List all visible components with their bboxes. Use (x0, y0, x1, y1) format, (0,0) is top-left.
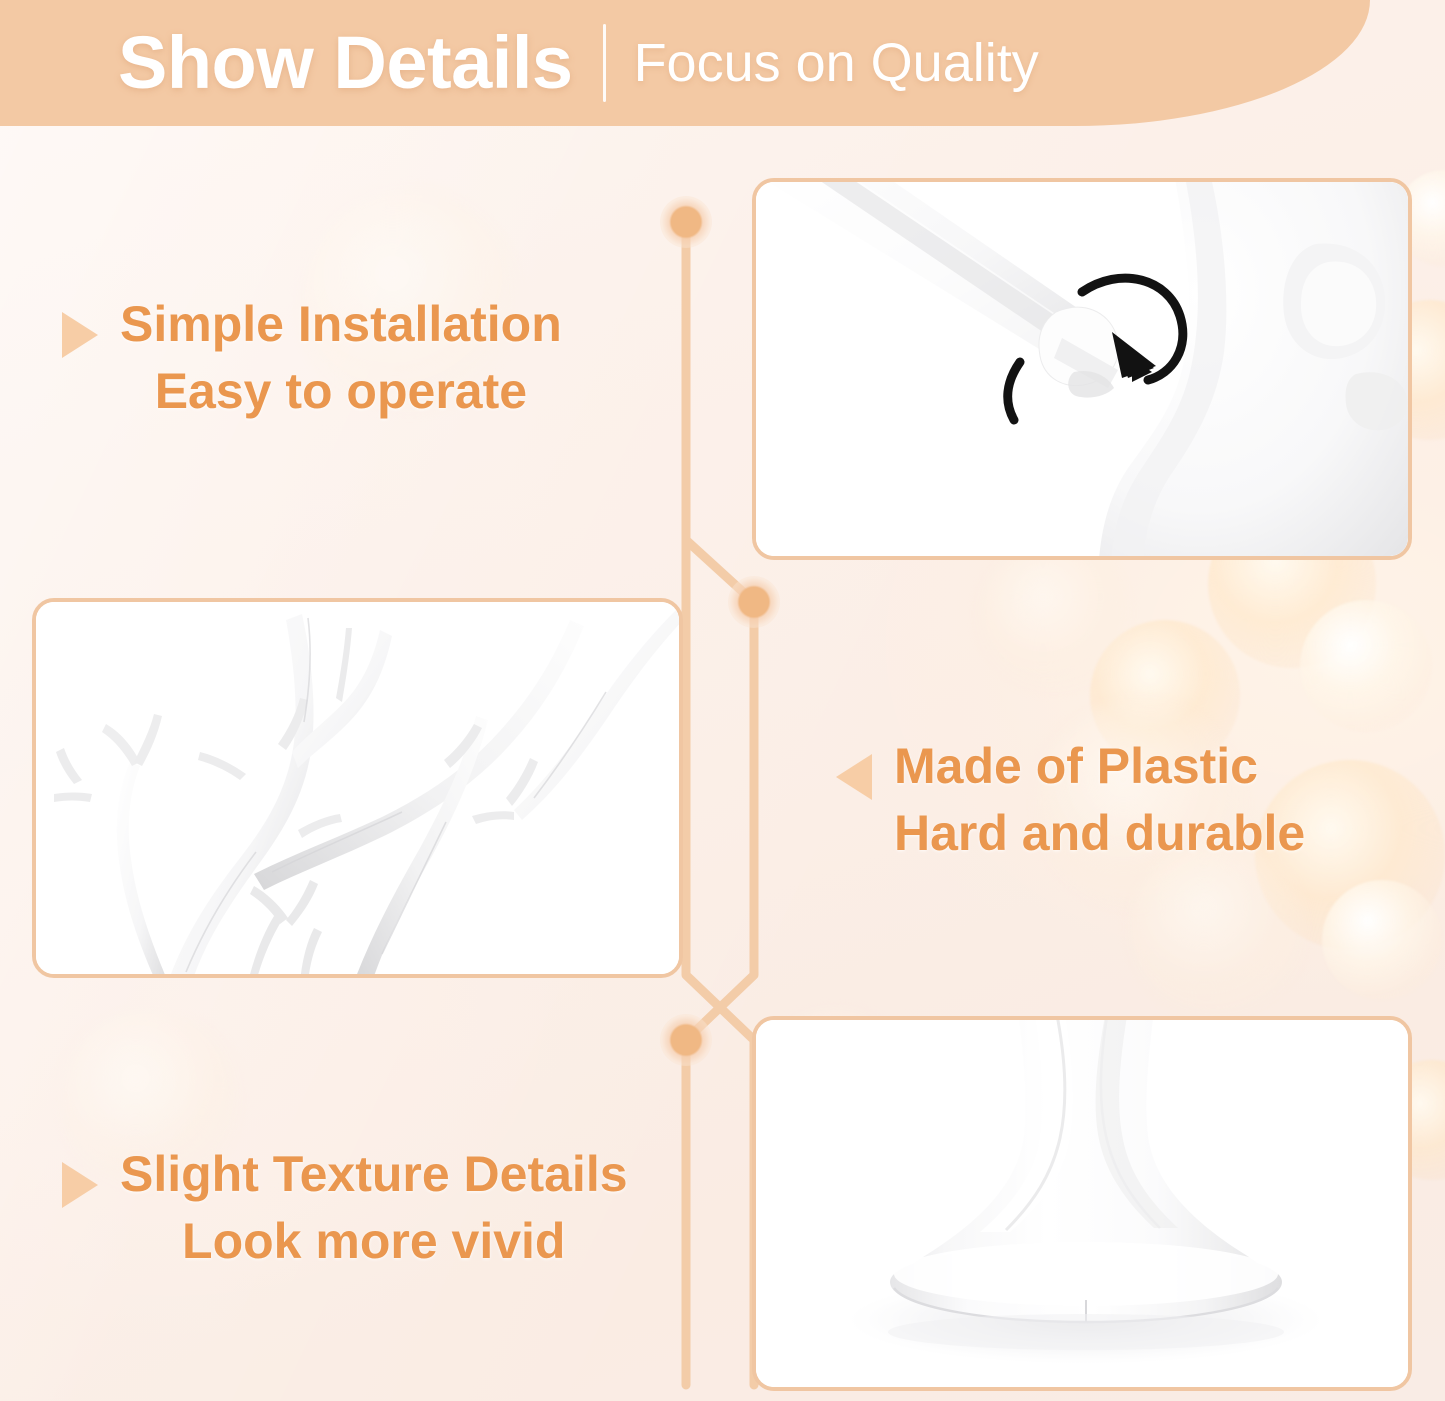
connector-node-middle (728, 576, 780, 628)
feature-made-of-plastic: Made of Plastic Hard and durable (836, 740, 1305, 860)
triangle-left-icon (836, 754, 872, 800)
feature-text-group: Simple Installation Easy to operate (120, 298, 562, 418)
installation-twist-illustration (756, 182, 1412, 560)
triangle-right-icon (62, 1162, 98, 1208)
product-detail-infographic: Show Details Focus on Quality (0, 0, 1445, 1401)
header-band: Show Details Focus on Quality (0, 0, 1370, 126)
installation-twist-photo (752, 178, 1412, 560)
feature-line-1: Slight Texture Details (120, 1148, 628, 1201)
base-stand-illustration (756, 1020, 1412, 1391)
feature-text-group: Made of Plastic Hard and durable (894, 740, 1305, 860)
feature-line-1: Made of Plastic (894, 740, 1305, 793)
page-subtitle: Focus on Quality (634, 36, 1039, 90)
base-stand-photo (752, 1016, 1412, 1391)
connector-node-bottom (660, 1014, 712, 1066)
branch-texture-illustration (36, 602, 683, 978)
header-divider-icon (603, 24, 606, 102)
feature-line-2: Hard and durable (894, 807, 1305, 860)
connector-node-top (660, 196, 712, 248)
feature-line-2: Easy to operate (155, 365, 527, 418)
feature-line-2: Look more vivid (182, 1215, 565, 1268)
page-title: Show Details (118, 26, 573, 100)
feature-simple-installation: Simple Installation Easy to operate (62, 298, 562, 418)
triangle-right-icon (62, 312, 98, 358)
feature-line-1: Simple Installation (120, 298, 562, 351)
feature-slight-texture-details: Slight Texture Details Look more vivid (62, 1148, 628, 1268)
feature-text-group: Slight Texture Details Look more vivid (120, 1148, 628, 1268)
branch-texture-photo (32, 598, 683, 978)
